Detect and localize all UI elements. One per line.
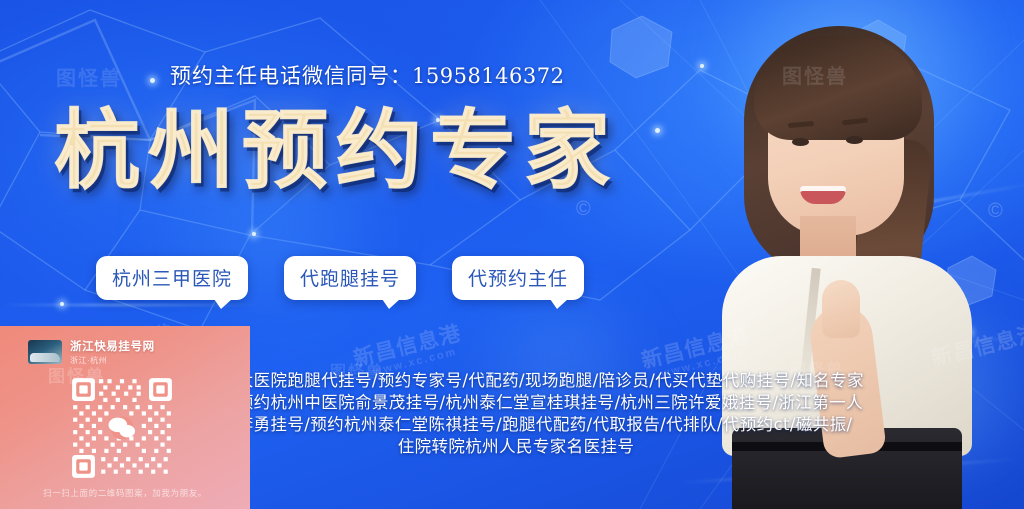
watermark-site: 新昌信息港	[350, 317, 464, 373]
description-line: 住院转院杭州人民专家名医挂号	[186, 436, 846, 458]
description-line: 民医院李勇挂号/预约杭州泰仁堂陈祺挂号/跑腿代配药/代取报告/代排队/代预约ct…	[186, 414, 846, 436]
network-node	[150, 78, 155, 83]
contact-line: 预约主任电话微信同号：15958146372	[170, 60, 564, 90]
wechat-account-location: 浙江·杭州	[70, 355, 155, 366]
wechat-qr-card[interactable]: 浙江快易挂号网 浙江·杭州 图怪兽	[0, 326, 250, 509]
bubble-button-book-director[interactable]: 代预约主任	[452, 256, 584, 300]
network-node	[252, 232, 256, 236]
contact-phone-number: 15958146372	[412, 64, 564, 88]
wechat-scan-caption: 扫一扫上面的二维码图案，加我为朋友。	[0, 487, 250, 499]
page-title: 杭州预约专家	[54, 108, 618, 194]
description-line: 杭州各大医院跑腿代挂号/预约专家号/代配药/现场跑腿/陪诊员/代买代垫代购挂号/…	[186, 370, 846, 392]
wechat-account-header: 浙江快易挂号网 浙江·杭州	[28, 338, 155, 366]
poster-canvas: 图怪兽 图怪兽 图怪兽 图怪兽 新昌信息港 www.xc.com 新昌信息港 w…	[0, 0, 1024, 509]
bubble-button-hospital[interactable]: 杭州三甲医院	[96, 256, 248, 300]
network-node	[60, 302, 64, 306]
service-description: 杭州各大医院跑腿代挂号/预约专家号/代配药/现场跑腿/陪诊员/代买代垫代购挂号/…	[186, 370, 846, 458]
bubble-button-errand-registration[interactable]: 代跑腿挂号	[284, 256, 416, 300]
contact-label: 预约主任电话微信同号：	[170, 64, 412, 88]
wechat-account-name: 浙江快易挂号网	[70, 338, 155, 354]
copyright-icon: ©	[576, 198, 591, 221]
bubble-button-group: 杭州三甲医院 代跑腿挂号 代预约主任	[96, 256, 584, 300]
wechat-qr-code[interactable]	[33, 376, 211, 480]
description-line: 号预约预约杭州中医院俞景茂挂号/杭州泰仁堂宣桂琪挂号/杭州三院许爱娥挂号/浙江第…	[186, 392, 846, 414]
watermark-brand: 图怪兽	[56, 62, 122, 91]
photo-avatar-icon	[28, 340, 62, 364]
wechat-logo-icon	[108, 417, 135, 440]
network-node	[655, 128, 660, 133]
